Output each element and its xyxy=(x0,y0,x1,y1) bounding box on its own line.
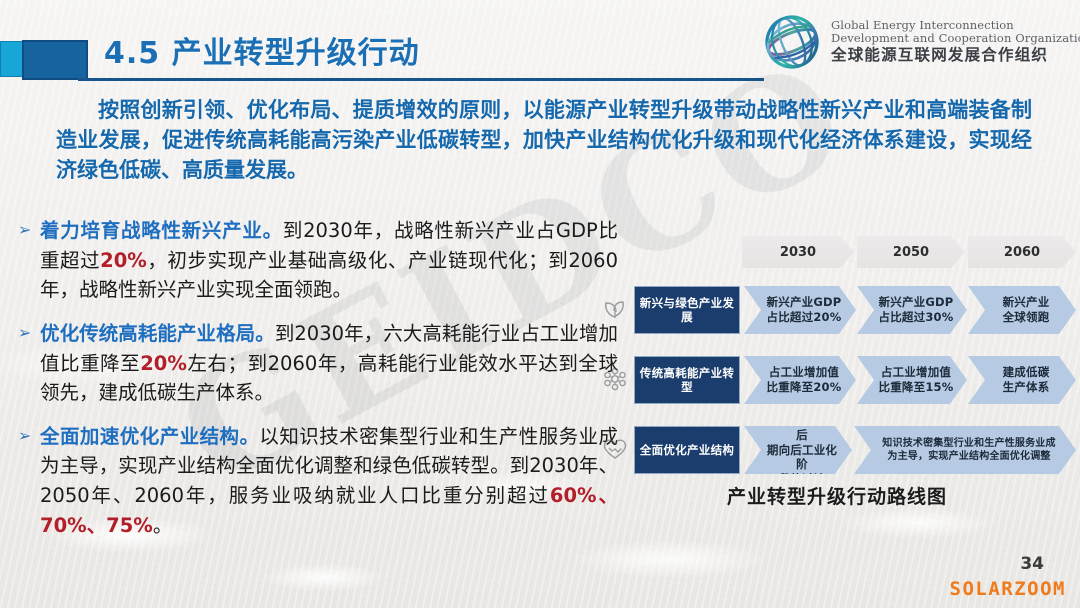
bullet-highlight: 20% xyxy=(140,352,187,375)
atom-icon xyxy=(598,362,632,396)
roadmap-row-label: 全面优化产业结构 xyxy=(634,426,740,474)
bullet-lead: 优化传统高耗能产业格局。 xyxy=(40,322,275,345)
year-label-2030: 2030 xyxy=(742,236,854,268)
roadmap-diagram: 2030 2050 2060 新兴与绿色产业发展 新兴产业GDP 占比超过20%… xyxy=(598,236,1076,516)
year-label-2050: 2050 xyxy=(857,236,965,268)
roadmap-row-label: 传统高耗能产业转型 xyxy=(634,356,740,404)
bullet-list: ➢ 着力培育战略性新兴产业。到2030年，战略性新兴产业占GDP比重超过20%，… xyxy=(18,216,618,554)
globe-icon xyxy=(762,12,822,72)
bullet-lead: 全面加速优化产业结构。 xyxy=(40,425,259,448)
roadmap-step: 占工业增加值 比重降至20% xyxy=(744,356,856,404)
roadmap-row-label: 新兴与绿色产业发展 xyxy=(634,286,740,334)
roadmap-year-header: 2030 2050 2060 xyxy=(742,236,1076,268)
solarzoom-watermark: SOLARZOOM xyxy=(950,578,1066,600)
bullet-arrow-icon: ➢ xyxy=(18,319,40,408)
bullet-lead: 着力培育战略性新兴产业。 xyxy=(40,219,283,242)
list-item: ➢ 全面加速优化产业结构。以知识技术密集型行业和生产性服务业成为主导，实现产业结… xyxy=(18,422,618,541)
roadmap-row-structure: 全面优化产业结构 完成由工业化后 期向后工业化阶 段的过渡 知识技术密集型行业和… xyxy=(598,426,1076,474)
lead-paragraph: 按照创新引领、优化布局、提质增效的原则，以能源产业转型升级带动战略性新兴产业和高… xyxy=(56,96,1032,185)
roadmap-step: 新兴产业GDP 占比超过30% xyxy=(857,286,967,334)
leaf-icon xyxy=(598,292,632,326)
bullet-arrow-icon: ➢ xyxy=(18,216,40,305)
bullet-body: 着力培育战略性新兴产业。到2030年，战略性新兴产业占GDP比重超过20%，初步… xyxy=(40,216,618,305)
bullet-highlight: 20% xyxy=(100,249,147,272)
organization-logo: Global Energy Interconnection Developmen… xyxy=(762,10,1074,74)
page-title: 4.5 产业转型升级行动 xyxy=(104,28,420,72)
roadmap-step: 新兴产业 全球领跑 xyxy=(968,286,1076,334)
logo-text-en-line2: Development and Cooperation Organization xyxy=(831,32,1080,45)
slide-canvas: GEIDCO 4.5 产业转型升级行动 xyxy=(0,0,1080,608)
roadmap-title: 产业转型升级行动路线图 xyxy=(598,482,1076,509)
roadmap-step: 新兴产业GDP 占比超过20% xyxy=(744,286,856,334)
list-item: ➢ 优化传统高耗能产业格局。到2030年，六大高耗能行业占工业增加值比重降至20… xyxy=(18,319,618,408)
header-divider xyxy=(78,78,764,81)
handshake-icon xyxy=(598,432,632,466)
roadmap-step: 知识技术密集型行业和生产性服务业成 为主导，实现产业结构全面优化调整 xyxy=(854,426,1076,474)
roadmap-step: 完成由工业化后 期向后工业化阶 段的过渡 xyxy=(744,426,852,474)
roadmap-row-emerging-green: 新兴与绿色产业发展 新兴产业GDP 占比超过20% 新兴产业GDP 占比超过30… xyxy=(598,286,1076,334)
bullet-body: 全面加速优化产业结构。以知识技术密集型行业和生产性服务业成为主导，实现产业结构全… xyxy=(40,422,618,541)
logo-text-cn: 全球能源互联网发展合作组织 xyxy=(831,47,1080,64)
roadmap-step: 占工业增加值 比重降至15% xyxy=(857,356,967,404)
header-accent-square-blue xyxy=(22,40,88,80)
bullet-seg2: 。 xyxy=(153,514,173,537)
year-label-2060: 2060 xyxy=(968,236,1076,268)
list-item: ➢ 着力培育战略性新兴产业。到2030年，战略性新兴产业占GDP比重超过20%，… xyxy=(18,216,618,305)
roadmap-step: 建成低碳 生产体系 xyxy=(968,356,1076,404)
bullet-body: 优化传统高耗能产业格局。到2030年，六大高耗能行业占工业增加值比重降至20%左… xyxy=(40,319,618,408)
roadmap-row-heavy-industry: 传统高耗能产业转型 占工业增加值 比重降至20% 占工业增加值 比重降至15% … xyxy=(598,356,1076,404)
page-number: 34 xyxy=(1020,554,1044,574)
bullet-arrow-icon: ➢ xyxy=(18,422,40,541)
